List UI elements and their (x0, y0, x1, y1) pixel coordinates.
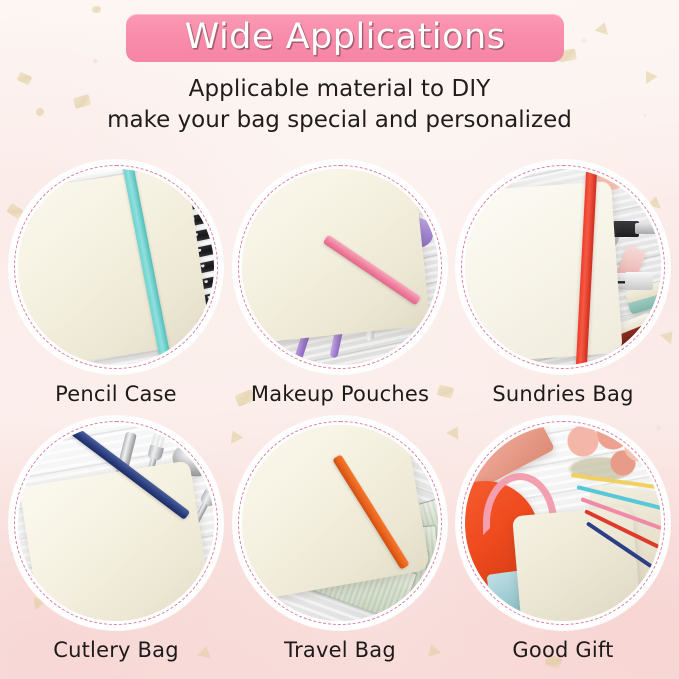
canvas-pouch-with-makeup-brushes-photo (242, 169, 438, 365)
confetti-flake (595, 20, 612, 35)
circle-frame (9, 416, 223, 630)
application-gallery: Pencil Case (0, 160, 679, 679)
canvas-pouch-with-pencils-photo (18, 169, 214, 365)
circle-frame (233, 416, 447, 630)
gallery-item-caption: Cutlery Bag (3, 637, 229, 663)
spray-bottle-nozzle (635, 223, 657, 234)
circle-frame (233, 160, 447, 374)
gallery-item-cutlery-bag: Cutlery Bag (3, 416, 229, 663)
gallery-item-caption: Good Gift (450, 637, 676, 663)
canvas-pouch-with-cosmetics-photo (465, 169, 661, 365)
subtitle-line-2: make your bag special and personalized (0, 105, 679, 136)
canvas-pouch-with-banknotes-photo (242, 425, 438, 621)
title-banner: Wide Applications (126, 14, 564, 62)
gallery-item-caption: Sundries Bag (450, 381, 676, 407)
canvas-pouch (465, 181, 623, 365)
gift-bags-and-roses-photo (465, 425, 661, 621)
canvas-pouch (19, 460, 213, 621)
gallery-item-travel-bag: Travel Bag (227, 416, 453, 663)
gallery-item-pencil-case: Pencil Case (3, 160, 229, 407)
subtitle-line-1: Applicable material to DIY (0, 74, 679, 105)
canvas-pouch-with-cutlery-photo (18, 425, 214, 621)
subtitle-block: Applicable material to DIY make your bag… (0, 74, 679, 136)
gallery-item-caption: Makeup Pouches (227, 381, 453, 407)
gallery-item-makeup-pouches: Makeup Pouches (227, 160, 453, 407)
page-title: Wide Applications (185, 20, 506, 55)
gallery-item-sundries-bag: Sundries Bag (450, 160, 676, 407)
gallery-item-caption: Pencil Case (3, 381, 229, 407)
circle-frame (456, 416, 670, 630)
circle-frame (9, 160, 223, 374)
canvas-pouch (18, 169, 211, 365)
lipstick-cap (625, 272, 653, 290)
gallery-item-good-gift: Good Gift (450, 416, 676, 663)
circle-frame (456, 160, 670, 374)
gallery-item-caption: Travel Bag (227, 637, 453, 663)
drawstring-canvas-bag (512, 506, 642, 621)
canvas-pouch (242, 169, 430, 344)
confetti-flake (92, 6, 101, 13)
product-infographic-page: Wide Applications Applicable material to… (0, 0, 679, 679)
